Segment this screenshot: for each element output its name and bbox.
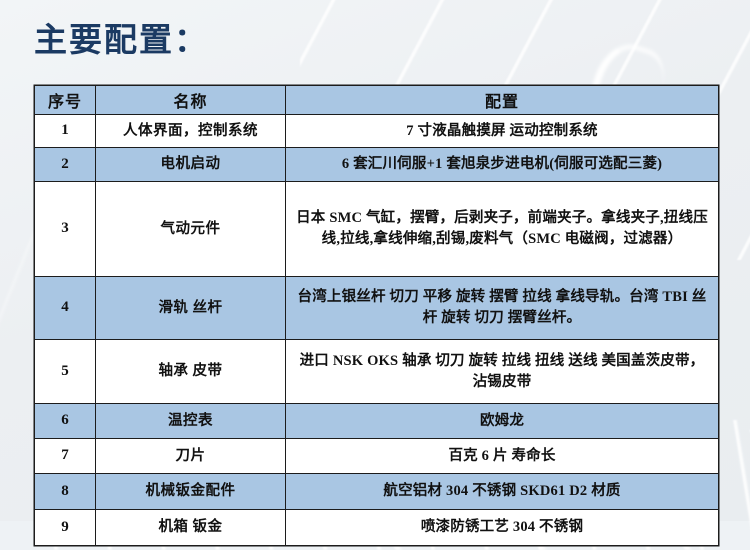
cell-spec: 喷漆防锈工艺 304 不锈钢 [286, 510, 719, 546]
cell-name: 机械钣金配件 [96, 474, 286, 510]
column-header-name: 名称 [96, 86, 286, 115]
cell-name: 温控表 [96, 404, 286, 439]
column-header-spec: 配置 [286, 86, 719, 115]
cell-name: 气动元件 [96, 182, 286, 277]
cell-name: 轴承 皮带 [96, 340, 286, 404]
cell-spec: 欧姆龙 [286, 404, 719, 439]
cell-spec: 台湾上银丝杆 切刀 平移 旋转 摆臂 拉线 拿线导轨。台湾 TBI 丝杆 旋转 … [286, 277, 719, 340]
cell-index: 8 [35, 474, 96, 510]
cell-index: 9 [35, 510, 96, 546]
cell-name: 电机启动 [96, 148, 286, 182]
table-row: 7 刀片 百克 6 片 寿命长 [35, 439, 719, 474]
cell-index: 7 [35, 439, 96, 474]
column-header-index: 序号 [35, 86, 96, 115]
cell-name: 刀片 [96, 439, 286, 474]
table-row: 8 机械钣金配件 航空铝材 304 不锈钢 SKD61 D2 材质 [35, 474, 719, 510]
table-row: 4 滑轨 丝杆 台湾上银丝杆 切刀 平移 旋转 摆臂 拉线 拿线导轨。台湾 TB… [35, 277, 719, 340]
cell-spec: 航空铝材 304 不锈钢 SKD61 D2 材质 [286, 474, 719, 510]
table-body: 1 人体界面，控制系统 7 寸液晶触摸屏 运动控制系统 2 电机启动 6 套汇川… [35, 115, 719, 546]
table-row: 5 轴承 皮带 进口 NSK OKS 轴承 切刀 旋转 拉线 扭线 送线 美国盖… [35, 340, 719, 404]
table-row: 2 电机启动 6 套汇川伺服+1 套旭泉步进电机(伺服可选配三菱) [35, 148, 719, 182]
cell-index: 5 [35, 340, 96, 404]
cell-name: 滑轨 丝杆 [96, 277, 286, 340]
cell-index: 6 [35, 404, 96, 439]
cell-name: 机箱 钣金 [96, 510, 286, 546]
cell-index: 3 [35, 182, 96, 277]
cell-spec: 7 寸液晶触摸屏 运动控制系统 [286, 115, 719, 148]
cell-spec: 进口 NSK OKS 轴承 切刀 旋转 拉线 扭线 送线 美国盖茨皮带，沾锡皮带 [286, 340, 719, 404]
page-title: 主要配置： [34, 19, 209, 63]
table-header: 序号 名称 配置 [35, 86, 719, 115]
cell-spec: 百克 6 片 寿命长 [286, 439, 719, 474]
cell-spec: 日本 SMC 气缸，摆臂，后剥夹子，前端夹子。拿线夹子,扭线压线,拉线,拿线伸缩… [286, 182, 719, 277]
cell-name: 人体界面，控制系统 [96, 115, 286, 148]
cell-index: 4 [35, 277, 96, 340]
table-row: 1 人体界面，控制系统 7 寸液晶触摸屏 运动控制系统 [35, 115, 719, 148]
table-header-row: 序号 名称 配置 [35, 86, 719, 115]
table-row: 9 机箱 钣金 喷漆防锈工艺 304 不锈钢 [35, 510, 719, 546]
table-row: 3 气动元件 日本 SMC 气缸，摆臂，后剥夹子，前端夹子。拿线夹子,扭线压线,… [35, 182, 719, 277]
table-row: 6 温控表 欧姆龙 [35, 404, 719, 439]
cell-spec: 6 套汇川伺服+1 套旭泉步进电机(伺服可选配三菱) [286, 148, 719, 182]
cell-index: 2 [35, 148, 96, 182]
cell-index: 1 [35, 115, 96, 148]
configuration-table: 序号 名称 配置 1 人体界面，控制系统 7 寸液晶触摸屏 运动控制系统 2 电… [34, 85, 719, 546]
